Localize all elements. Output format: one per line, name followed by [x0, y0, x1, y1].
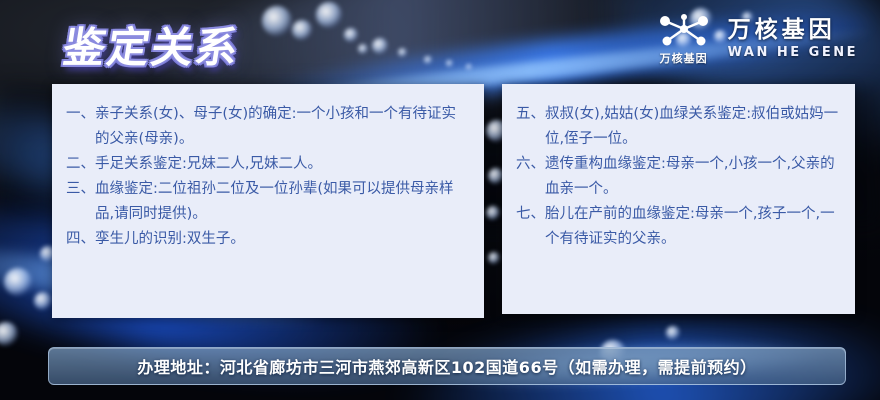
bokeh-dot: [666, 326, 680, 340]
list-item-number: 一、: [66, 102, 95, 127]
list-item: 四、 孪生儿的识别:双生子。: [66, 227, 470, 252]
list-item-number: 二、: [66, 152, 95, 177]
brand-logo: 万核基因 万核基因 WAN HE GENE: [650, 12, 858, 66]
list-item-text: 亲子关系(女)、母子(女)的确定:一个小孩和一个有待证实的父亲(母亲)。: [95, 102, 470, 152]
bokeh-dot: [358, 44, 368, 54]
list-item-text: 胎儿在产前的血缘鉴定:母亲一个,孩子一个,一个有待证实的父亲。: [545, 202, 841, 252]
list-item: 二、 手足关系鉴定:兄妹二人,兄妹二人。: [66, 152, 470, 177]
bokeh-dot: [466, 64, 472, 70]
list-item-text: 遗传重构血缘鉴定:母亲一个,小孩一个,父亲的血亲一个。: [545, 152, 841, 202]
bokeh-dot: [4, 268, 32, 296]
panel-right-content: 五、 叔叔(女),姑姑(女)血绿关系鉴定:叔伯或姑妈一位,侄子一位。 六、 遗传…: [502, 84, 855, 262]
address-text: 办理地址：河北省廊坊市三河市燕郊高新区102国道66号（如需办理，需提前预约）: [137, 354, 756, 378]
page-title: 鉴定关系: [59, 14, 245, 75]
bokeh-dot: [344, 28, 358, 42]
list-item: 一、 亲子关系(女)、母子(女)的确定:一个小孩和一个有待证实的父亲(母亲)。: [66, 102, 470, 152]
bokeh-dot: [398, 48, 407, 57]
bokeh-dot: [262, 6, 292, 36]
logo-mark-label: 万核基因: [660, 50, 708, 66]
list-item-number: 七、: [516, 202, 545, 227]
logo-wordmark: 万核基因 WAN HE GENE: [728, 18, 858, 61]
service-list-panel-right: 五、 叔叔(女),姑姑(女)血绿关系鉴定:叔伯或姑妈一位,侄子一位。 六、 遗传…: [502, 84, 855, 314]
list-item: 三、 血缘鉴定:二位祖孙二位及一位孙辈(如果可以提供母亲样品,请同时提供)。: [66, 177, 470, 227]
bokeh-dot: [372, 38, 388, 54]
list-item-text: 孪生儿的识别:双生子。: [95, 227, 470, 252]
bokeh-dot: [316, 2, 342, 28]
brand-name-en: WAN HE GENE: [728, 46, 858, 60]
service-list-panel-left: 一、 亲子关系(女)、母子(女)的确定:一个小孩和一个有待证实的父亲(母亲)。 …: [52, 84, 484, 318]
list-item: 五、 叔叔(女),姑姑(女)血绿关系鉴定:叔伯或姑妈一位,侄子一位。: [516, 102, 841, 152]
address-banner: 办理地址：河北省廊坊市三河市燕郊高新区102国道66号（如需办理，需提前预约）: [48, 347, 846, 385]
list-item: 六、 遗传重构血缘鉴定:母亲一个,小孩一个,父亲的血亲一个。: [516, 152, 841, 202]
panel-left-content: 一、 亲子关系(女)、母子(女)的确定:一个小孩和一个有待证实的父亲(母亲)。 …: [52, 84, 484, 262]
list-item-text: 叔叔(女),姑姑(女)血绿关系鉴定:叔伯或姑妈一位,侄子一位。: [545, 102, 841, 152]
molecule-network-icon: [653, 12, 715, 48]
bokeh-dot: [486, 206, 500, 220]
bokeh-dot: [488, 252, 500, 264]
brand-name-cn: 万核基因: [728, 18, 858, 43]
bokeh-dot: [292, 20, 312, 40]
bokeh-dot: [424, 56, 432, 64]
list-item-number: 六、: [516, 152, 545, 177]
list-item-number: 五、: [516, 102, 545, 127]
list-item-number: 三、: [66, 177, 95, 202]
promo-banner-slide: 鉴定关系: [0, 0, 880, 400]
bokeh-dot: [446, 60, 453, 67]
list-item-text: 血缘鉴定:二位祖孙二位及一位孙辈(如果可以提供母亲样品,请同时提供)。: [95, 177, 470, 227]
bokeh-dot: [34, 292, 52, 310]
list-item-text: 手足关系鉴定:兄妹二人,兄妹二人。: [95, 152, 470, 177]
list-item-number: 四、: [66, 227, 95, 252]
logo-mark: 万核基因: [650, 12, 718, 66]
list-item: 七、 胎儿在产前的血缘鉴定:母亲一个,孩子一个,一个有待证实的父亲。: [516, 202, 841, 252]
